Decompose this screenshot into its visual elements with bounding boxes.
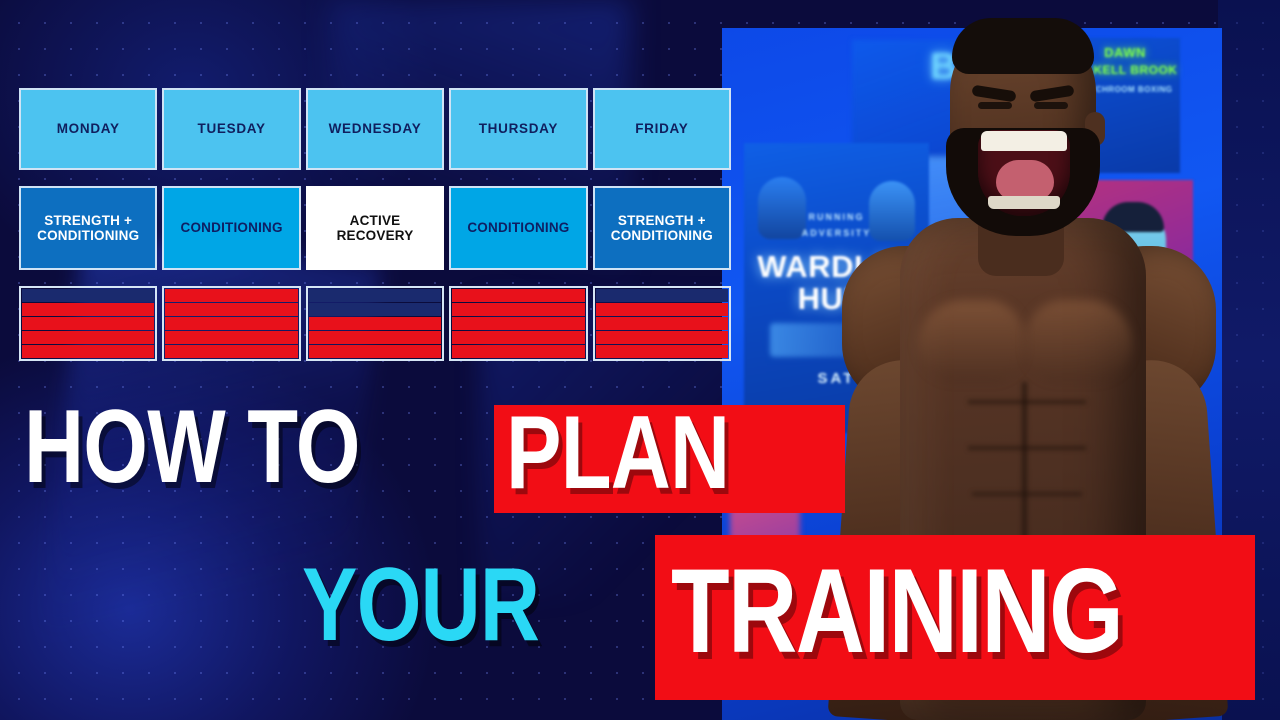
bar-cell-monday[interactable]	[19, 286, 157, 361]
headline-plan-block: PLAN	[494, 405, 845, 513]
bar-segment-5	[165, 345, 297, 358]
bar-segment-4	[596, 331, 728, 344]
athlete-ab-row-2	[968, 446, 1086, 450]
bar-segment-5	[596, 345, 728, 358]
training-schedule-table: MONDAY TUESDAY WEDNESDAY THURSDAY FRIDAY…	[19, 88, 731, 361]
day-header-tuesday[interactable]: TUESDAY	[162, 88, 300, 170]
bar-cell-thursday[interactable]	[449, 286, 587, 361]
athlete-hair	[952, 18, 1094, 74]
bar-segment-5	[22, 345, 154, 358]
bar-segment-4	[22, 331, 154, 344]
bar-segment-3	[596, 317, 728, 330]
bar-segment-5	[452, 345, 584, 358]
bar-segment-1	[165, 289, 297, 302]
bar-segment-1	[22, 289, 154, 302]
athlete-tongue	[996, 160, 1054, 200]
athlete-teeth-upper	[981, 131, 1067, 151]
athlete-ab-row-1	[968, 400, 1086, 404]
athlete-teeth-lower	[988, 196, 1060, 209]
bar-segment-1	[309, 289, 441, 302]
bar-segment-3	[165, 317, 297, 330]
activity-cell-tuesday[interactable]: CONDITIONING	[162, 186, 300, 270]
bar-segment-4	[452, 331, 584, 344]
bar-cell-tuesday[interactable]	[162, 286, 300, 361]
bar-segment-2	[452, 303, 584, 316]
bar-segment-2	[165, 303, 297, 316]
activity-cell-friday[interactable]: STRENGTH + CONDITIONING	[593, 186, 731, 270]
activity-cell-monday[interactable]: STRENGTH + CONDITIONING	[19, 186, 157, 270]
athlete-eye-left	[978, 102, 1012, 109]
headline-training-block: TRAINING	[655, 535, 1255, 700]
bar-cell-wednesday[interactable]	[306, 286, 444, 361]
bar-cell-friday[interactable]	[593, 286, 731, 361]
athlete-ab-line	[1022, 382, 1027, 552]
headline-how-to: HOW TO	[24, 398, 360, 498]
bar-segment-1	[452, 289, 584, 302]
bar-segment-4	[165, 331, 297, 344]
schedule-activity-row: STRENGTH + CONDITIONING CONDITIONING ACT…	[19, 186, 731, 270]
athlete-pec-left	[918, 300, 1024, 382]
day-header-thursday[interactable]: THURSDAY	[449, 88, 587, 170]
day-header-friday[interactable]: FRIDAY	[593, 88, 731, 170]
bar-segment-3	[22, 317, 154, 330]
athlete-pec-right	[1026, 300, 1132, 382]
schedule-header-row: MONDAY TUESDAY WEDNESDAY THURSDAY FRIDAY	[19, 88, 731, 170]
bar-segment-4	[309, 331, 441, 344]
activity-cell-wednesday[interactable]: ACTIVE RECOVERY	[306, 186, 444, 270]
schedule-bar-row	[19, 286, 731, 361]
headline-line-1: HOW TO	[24, 398, 444, 498]
headline-training: TRAINING	[671, 551, 1122, 671]
thumbnail-canvas: BROOK RUNNING ADVERSITY WARDLEY HUNI SAT…	[0, 0, 1280, 720]
bar-segment-3	[452, 317, 584, 330]
bar-segment-1	[596, 289, 728, 302]
bar-segment-5	[309, 345, 441, 358]
day-header-monday[interactable]: MONDAY	[19, 88, 157, 170]
bar-segment-3	[309, 317, 441, 330]
activity-cell-thursday[interactable]: CONDITIONING	[449, 186, 587, 270]
headline-plan: PLAN	[506, 401, 729, 505]
headline-your: YOUR	[302, 553, 539, 657]
bar-segment-2	[309, 303, 441, 316]
athlete-eye-right	[1034, 102, 1068, 109]
bar-segment-2	[22, 303, 154, 316]
bar-segment-2	[596, 303, 728, 316]
day-header-wednesday[interactable]: WEDNESDAY	[306, 88, 444, 170]
athlete-ab-row-3	[972, 492, 1082, 496]
